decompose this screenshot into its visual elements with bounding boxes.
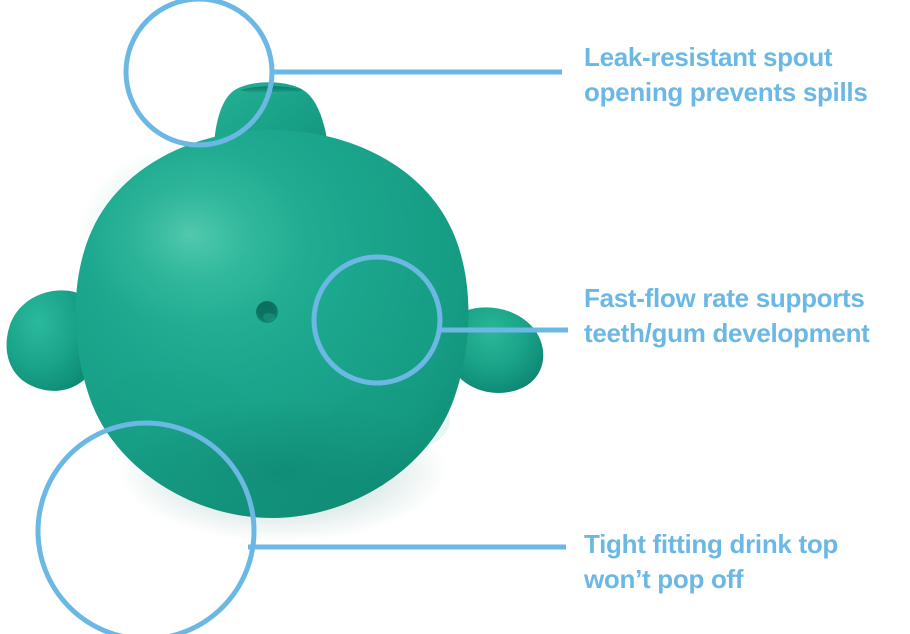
callout-label-fast-flow-rate: Fast-flow rate supports teeth/gum develo… xyxy=(584,281,910,351)
callout-label-leak-resistant-spout: Leak-resistant spout opening prevents sp… xyxy=(584,40,906,110)
product-feature-infographic: Leak-resistant spout opening prevents sp… xyxy=(0,0,910,634)
right-handle-nub xyxy=(460,307,543,393)
vent-hole xyxy=(256,301,278,323)
product-photo xyxy=(0,0,580,634)
callout-label-tight-fitting-drink-top: Tight fitting drink top won’t pop off xyxy=(584,527,906,597)
product-illustration xyxy=(0,0,580,634)
main-body xyxy=(76,130,469,542)
left-handle-nub xyxy=(7,290,86,391)
